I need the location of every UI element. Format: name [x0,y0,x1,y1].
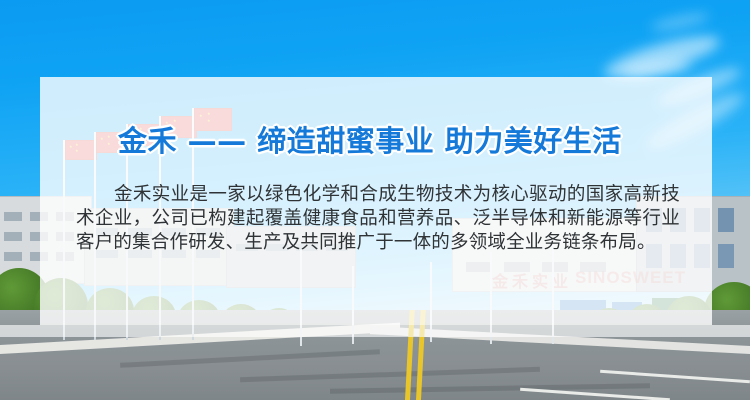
banner-title: 金禾 —— 缔造甜蜜事业 助力美好生活 [118,124,622,158]
banner-description: 金禾实业是一家以绿色化学和合成生物技术为核心驱动的国家高新技术企业，公司已构建起… [76,183,680,255]
promo-banner: 金禾实业 SINOSWEET ★ ★ ★ ★ [0,0,750,400]
frosted-overlay-foot [0,325,750,337]
